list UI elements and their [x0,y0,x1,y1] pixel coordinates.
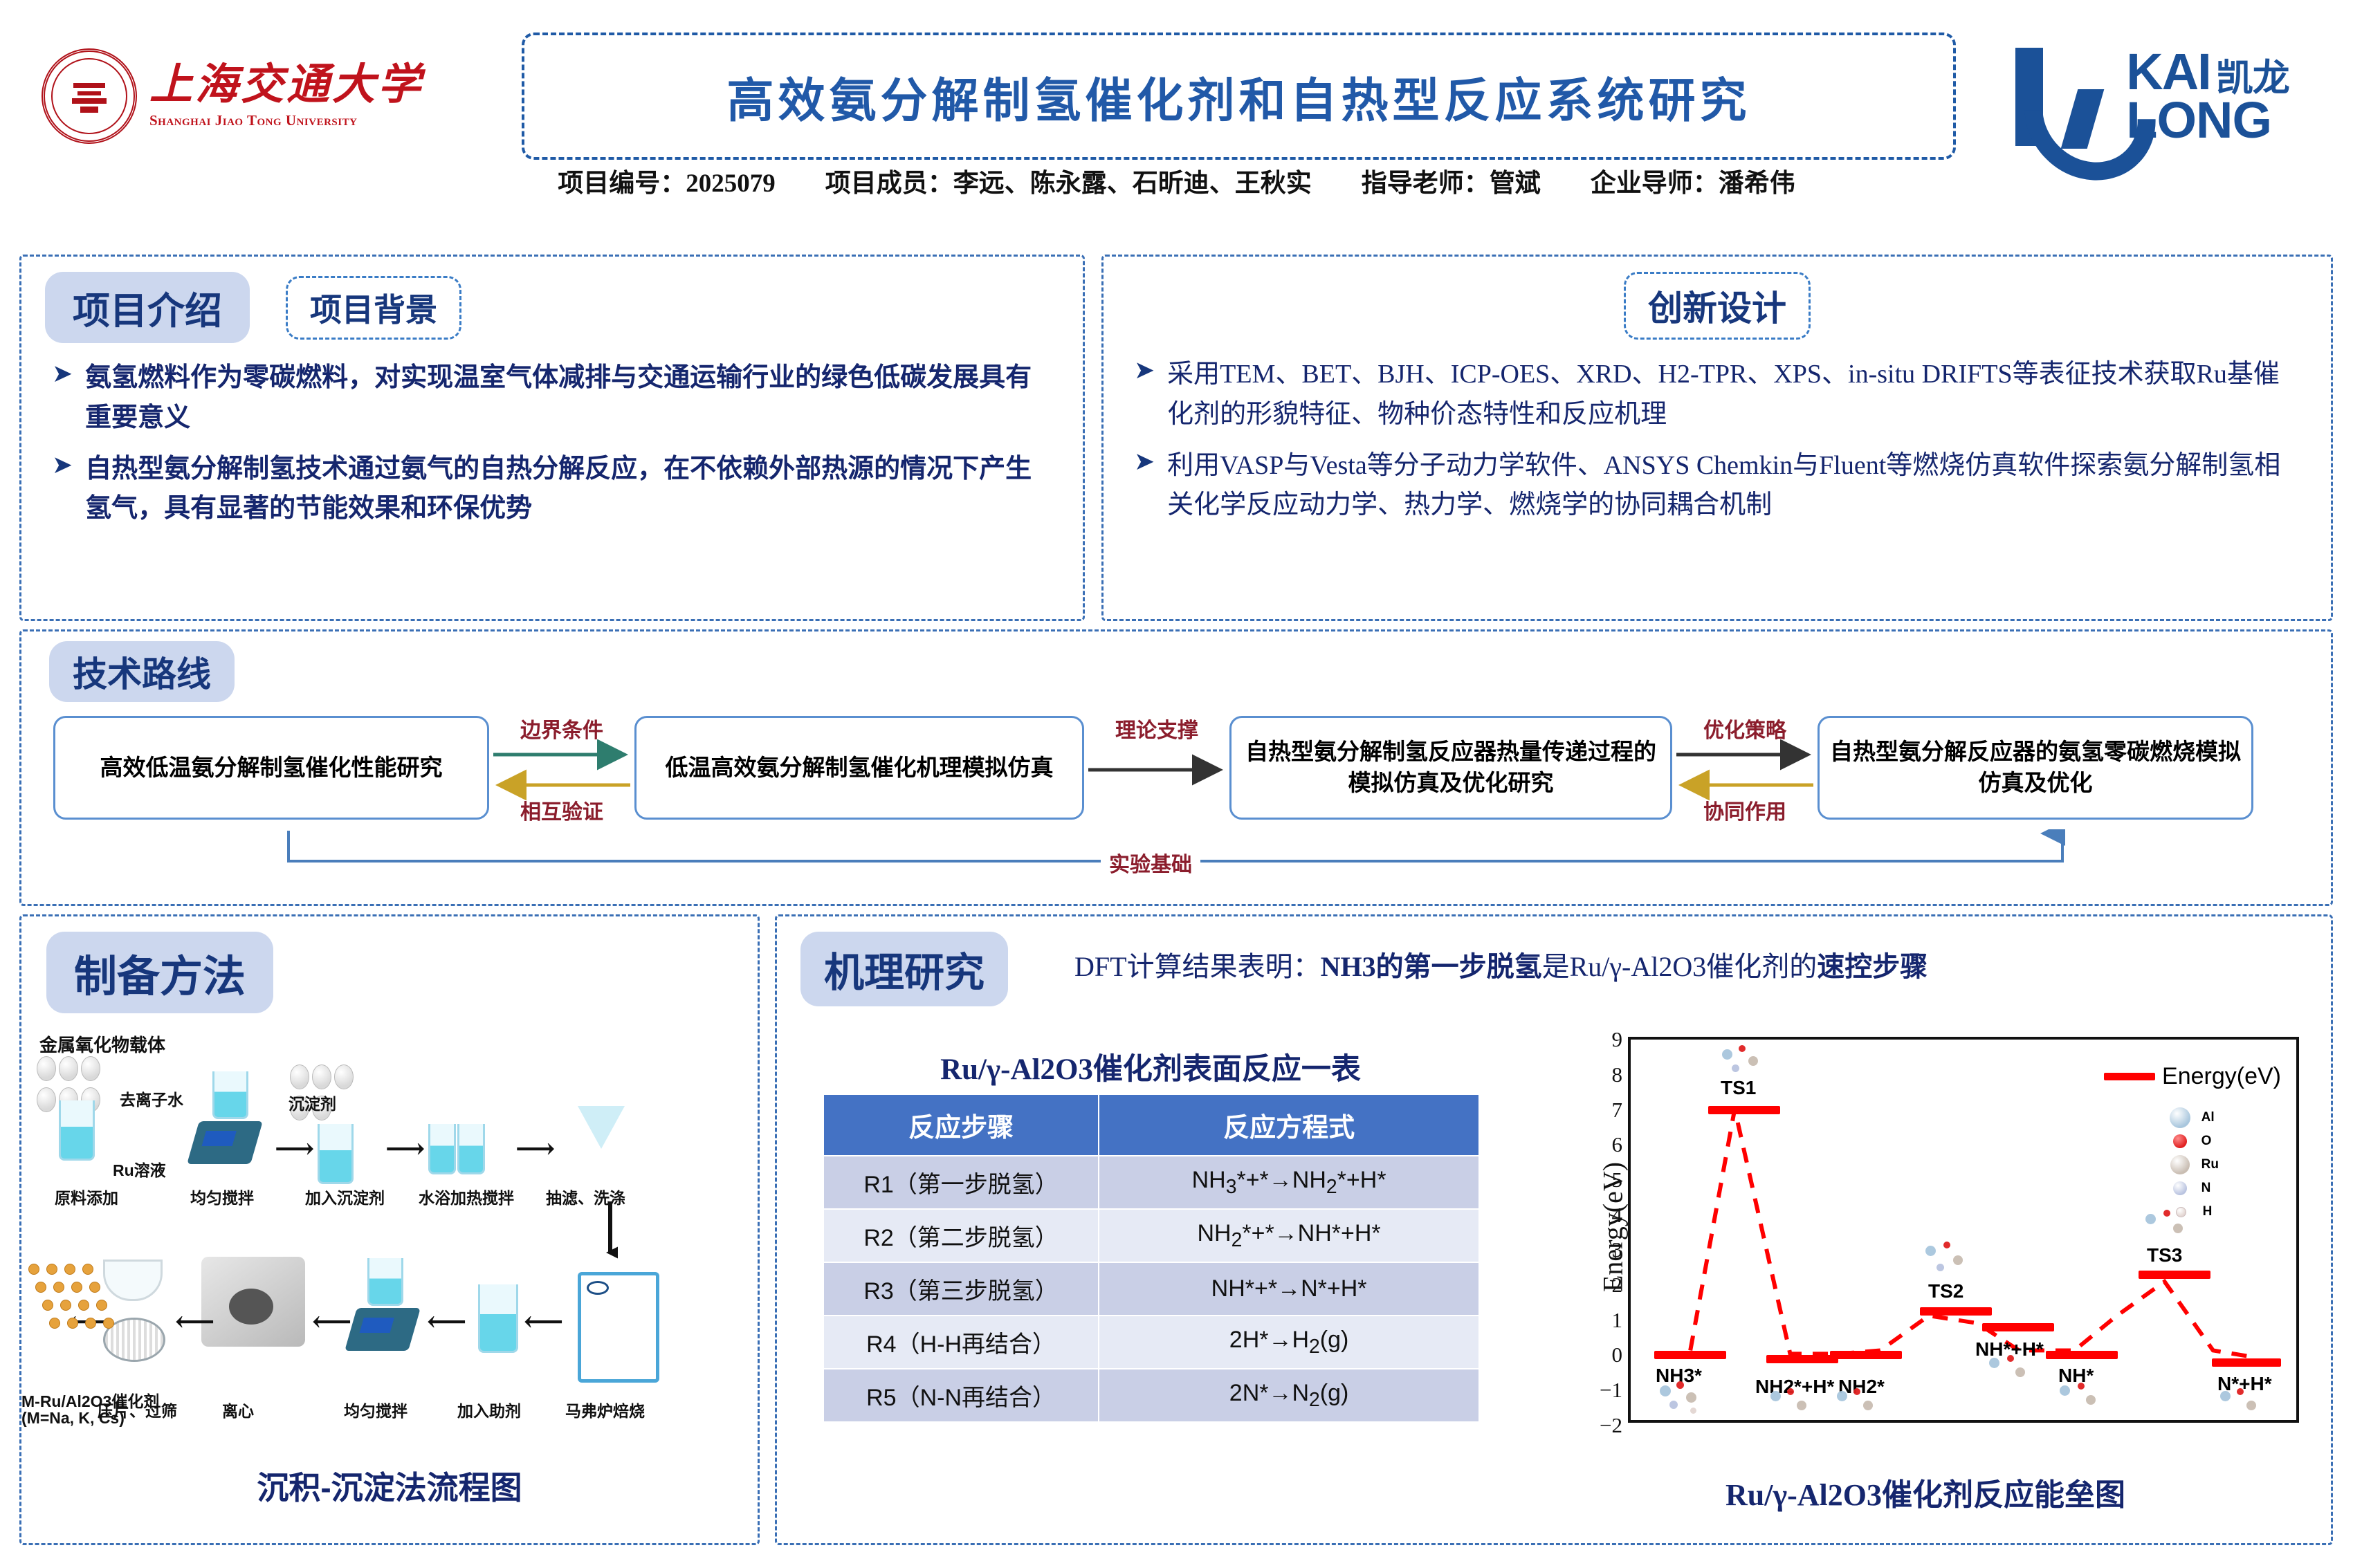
y-tick-8: 8 [1595,1062,1622,1087]
step-label-bottom-5: 马弗炉焙烧 [565,1398,645,1421]
flow-arrow-icon: ⟵ [312,1305,351,1338]
atom-dot-h-icon [2176,1207,2186,1217]
funnel-icon [578,1106,625,1149]
y-tick-1: 1 [1595,1308,1622,1333]
innovation-bullet-2: ➤ 利用VASP与Vesta等分子动力学软件、ANSYS Chemkin与Flu… [1134,446,2300,526]
chart-caption: Ru/γ-Al2O3催化剂反应能垒图 [1531,1470,2320,1514]
reaction-table: 反应步骤 反应方程式 R1（第一步脱氢） NH3*+*→NH2*+H* R2（第… [823,1094,1480,1423]
innovation-bullet-2-text: 利用VASP与Vesta等分子动力学软件、ANSYS Chemkin与Fluen… [1167,446,2300,526]
sjtu-seal-icon [42,48,137,144]
table-header-row: 反应步骤 反应方程式 [823,1094,1479,1156]
reaction-table-title: Ru/γ-Al2O3催化剂表面反应一表 [812,1045,1490,1088]
centrifuge-icon [201,1257,305,1347]
kailong-mark-icon [2015,44,2119,149]
level-bar-N-H [2212,1358,2281,1367]
route-connector-3: 优化策略 协同作用 [1672,716,1818,820]
state-label-TS2: TS2 [1928,1280,1963,1302]
step-label-bottom-4: 加入助剂 [457,1398,521,1421]
level-bar-TS2 [1920,1307,1992,1316]
table-row: R1（第一步脱氢） NH3*+*→NH2*+H* [823,1156,1479,1209]
beaker-icon [428,1124,456,1174]
magnetic-stirrer-icon [187,1121,263,1164]
flow-arrow-icon: ⟵ [175,1305,214,1338]
y-tick-3: 3 [1595,1237,1622,1262]
kailong-logo: KAI 凯龙 LONG [1979,34,2325,158]
table-cell-equation: 2N*→N2(g) [1099,1369,1479,1422]
route-flow: 高效低温氨分解制氢催化性能研究 边界条件 相互验证 低温高效氨分解制氢催化机理模… [53,709,2302,827]
bullet-arrow-icon: ➤ [1134,446,1155,526]
project-members: 项目成员：李远、陈永露、石昕迪、王秋实 [825,162,1312,199]
route-connector-2: 理论支撑 [1084,716,1229,820]
route-feedback-arrow-icon [284,829,2132,878]
enterprise-mentor: 企业导师：潘希伟 [1591,162,1795,199]
level-bar-NH3 [1654,1351,1726,1359]
table-cell-equation: 2H*→H2(g) [1099,1316,1479,1369]
atom-label-al: Al [2201,1110,2215,1125]
level-bar-NH [2046,1351,2118,1359]
muffle-furnace-icon [578,1272,659,1383]
y-tick-5: 5 [1595,1168,1622,1192]
chart-legend-energy: Energy(eV) [2104,1063,2281,1090]
y-tick-7: 7 [1595,1098,1622,1123]
flow-arrow-icon: ⟶ [515,1132,555,1165]
beaker-icon [367,1258,403,1306]
intro-chip-label: 项目介绍 [45,272,250,343]
intro-bullet-2: ➤ 自热型氨分解制氢技术通过氨气的自热分解反应，在不依赖外部热源的情况下产生氢气… [52,450,1052,530]
molecule-thumb-NH2 [1833,1385,1884,1428]
route-chip-label: 技术路线 [49,641,235,702]
product-label-line1: M-Ru/Al2O3催化剂 [21,1388,159,1412]
intro-bullet-1: ➤ 氨氢燃料作为零碳燃料，对实现温室气体减排与交通运输行业的绿色低碳发展具有重要… [52,358,1052,439]
university-name-cn: 上海交通大学 [149,63,423,108]
flow-arrow-icon: ⟵ [524,1305,563,1338]
beaker-icon [457,1124,485,1174]
route-connector-3-bottom-label: 协同作用 [1672,795,1818,825]
magnetic-stirrer-icon [345,1308,421,1351]
route-feedback-label: 实验基础 [1101,847,1200,878]
reagent-label-precipitant: 沉淀剂 [289,1091,336,1114]
down-arrow-icon [604,1201,618,1262]
y-tick-4: 4 [1595,1203,1622,1228]
step-label-top-4: 水浴加热搅拌 [419,1185,514,1208]
mechanism-headline: DFT计算结果表明：NH3的第一步脱氢是Ru/γ-Al2O3催化剂的速控步骤 [1074,944,1928,984]
atom-legend-row-n: N [2170,1177,2219,1200]
atom-legend-row-o: O [2170,1129,2219,1153]
project-meta-line: 项目编号：2025079 项目成员：李远、陈永露、石昕迪、王秋实 指导老师：管斌… [0,162,2353,210]
table-cell-step: R5（N-N再结合） [823,1369,1099,1422]
table-cell-equation: NH2*+*→NH*+H* [1099,1209,1479,1262]
innovation-bullet-1: ➤ 采用TEM、BET、BJH、ICP-OES、XRD、H2-TPR、XPS、i… [1134,355,2300,435]
atom-legend-row-h: H [2170,1200,2219,1224]
route-arrow-pair-icon [1672,739,1818,802]
section-mechanism-research: 机理研究 DFT计算结果表明：NH3的第一步脱氢是Ru/γ-Al2O3催化剂的速… [775,914,2333,1545]
level-bar-NH-H [1982,1323,2054,1331]
project-advisor: 指导老师：管斌 [1362,162,1541,199]
mechanism-headline-pre: DFT计算结果表明： [1074,951,1321,982]
route-arrow-pair-icon [489,739,634,802]
molecule-thumb-NH3 [1656,1380,1707,1423]
step-label-top-3: 加入沉淀剂 [305,1185,385,1208]
intro-bullet-1-text: 氨氢燃料作为零碳燃料，对实现温室气体减排与交通运输行业的绿色低碳发展具有重要意义 [85,363,1032,432]
intro-subchip-label: 项目背景 [286,276,461,340]
table-header-equation: 反应方程式 [1099,1094,1479,1156]
beaker-icon [478,1284,518,1353]
mechanism-headline-highlight: NH3的第一步脱氢 [1321,951,1542,982]
chart-atom-legend: Al O Ru N H [2170,1106,2219,1224]
route-feedback-path: 实验基础 [284,829,2132,878]
route-box-2: 低温高效氨分解制氢催化机理模拟仿真 [634,716,1084,820]
catalyst-lattice-icon [24,1260,142,1349]
intro-bullet-2-text: 自热型氨分解制氢技术通过氨气的自热分解反应，在不依赖外部热源的情况下产生氢气，具… [85,454,1032,524]
section-technical-route: 技术路线 高效低温氨分解制氢催化性能研究 边界条件 相互验证 低温高效氨分解制氢… [19,629,2333,906]
university-name-en: Shanghai Jiao Tong University [149,112,423,129]
atom-label-ru: Ru [2201,1157,2219,1172]
poster-header: 上海交通大学 Shanghai Jiao Tong University 高效氨… [0,0,2353,180]
molecule-thumb-NH2-H [1766,1385,1818,1428]
table-row: R5（N-N再结合） 2N*→N2(g) [823,1369,1479,1422]
innovation-bullet-1-text: 采用TEM、BET、BJH、ICP-OES、XRD、H2-TPR、XPS、in-… [1167,355,2300,435]
table-cell-equation: NH*+*→N*+H* [1099,1262,1479,1316]
energy-profile-chart: Energy(eV) 9 8 7 6 5 4 3 2 1 0 −1 −2 [1552,1027,2306,1461]
atom-dot-n-icon [2173,1181,2187,1195]
section-preparation-method: 制备方法 金属氧化物载体 去离子水 Ru溶液 原料添加 均匀搅拌 ⟶ 沉淀剂 加… [19,914,760,1545]
level-bar-NH2 [1830,1351,1902,1359]
step-label-bottom-3: 均匀搅拌 [344,1398,408,1421]
molecule-thumb-TS1 [1716,1042,1768,1085]
y-tick-neg1: −1 [1595,1378,1622,1403]
atom-legend-row-al: Al [2170,1106,2219,1129]
table-row: R2（第二步脱氢） NH2*+*→NH*+H* [823,1209,1479,1262]
y-tick-2: 2 [1595,1273,1622,1298]
molecule-thumb-NH [2056,1380,2107,1423]
table-row: R3（第三步脱氢） NH*+*→N*+H* [823,1262,1479,1316]
route-box-4: 自热型氨分解反应器的氨氢零碳燃烧模拟仿真及优化 [1818,716,2253,820]
level-bar-TS1 [1708,1106,1780,1114]
reagent-label-ru: Ru溶液 [113,1157,166,1181]
step-label-top-1: 原料添加 [55,1185,118,1208]
flow-arrow-icon: ⟶ [275,1132,314,1165]
route-box-1: 高效低温氨分解制氢催化性能研究 [53,716,489,820]
mechanism-headline-post: 是Ru/γ-Al2O3催化剂的 [1542,951,1818,982]
molecule-thumb-N-H [2216,1385,2267,1428]
route-connector-1: 边界条件 相互验证 [489,716,634,820]
product-label-line2: (M=Na, K, Cs) [21,1409,125,1428]
project-number: 项目编号：2025079 [558,162,776,199]
legend-line-swatch [2104,1073,2155,1080]
preparation-caption: 沉积-沉淀法流程图 [21,1463,758,1509]
reagent-label-water: 去离子水 [120,1087,183,1110]
preparation-flow-diagram: 去离子水 Ru溶液 原料添加 均匀搅拌 ⟶ 沉淀剂 加入沉淀剂 ⟶ 水浴加热搅拌… [31,1052,751,1460]
beaker-icon [212,1071,248,1119]
atom-dot-o-icon [2173,1134,2187,1148]
table-cell-step: R1（第一步脱氢） [823,1156,1099,1209]
y-tick-neg2: −2 [1595,1413,1622,1438]
poster-title: 高效氨分解制氢催化剂和自热型反应系统研究 [726,62,1750,131]
table-row: R4（H-H再结合） 2H*→H2(g) [823,1316,1479,1369]
atom-dot-ru-icon [2170,1155,2190,1174]
table-cell-step: R4（H-H再结合） [823,1316,1099,1369]
bullet-arrow-icon: ➤ [52,358,73,439]
poster-title-box: 高效氨分解制氢催化剂和自热型反应系统研究 [522,33,1956,160]
beaker-icon [318,1124,354,1184]
level-bar-TS3 [2139,1271,2210,1279]
y-tick-9: 9 [1595,1027,1622,1052]
preparation-chip-label: 制备方法 [46,932,273,1013]
chart-plot-area: NH3* TS1 NH2*+H* NH2* TS2 NH*+H* NH* TS3… [1628,1037,2299,1423]
innovation-chip-label: 创新设计 [1624,272,1811,340]
level-bar-NH2-H [1766,1355,1838,1363]
mechanism-headline-end: 速控步骤 [1817,951,1928,982]
step-label-bottom-2: 离心 [222,1398,254,1421]
molecule-thumb-TS2 [1921,1240,1972,1283]
table-cell-equation: NH3*+*→NH2*+H* [1099,1156,1479,1209]
bullet-arrow-icon: ➤ [1134,355,1155,435]
beaker-icon [59,1100,95,1161]
atom-label-o: O [2201,1134,2212,1149]
flow-arrow-icon: ⟶ [385,1132,425,1165]
route-box-3: 自热型氨分解制氢反应器热量传递过程的模拟仿真及优化研究 [1229,716,1672,820]
section-innovative-design: 创新设计 ➤ 采用TEM、BET、BJH、ICP-OES、XRD、H2-TPR、… [1101,255,2333,621]
table-cell-step: R2（第二步脱氢） [823,1209,1099,1262]
molecule-thumb-NH-H [1985,1352,2036,1395]
atom-label-n: N [2201,1181,2211,1196]
poster-root: 上海交通大学 Shanghai Jiao Tong University 高效氨… [0,0,2353,1568]
mechanism-chip-label: 机理研究 [800,932,1008,1006]
route-arrow-icon [1084,739,1229,802]
atom-legend-row-ru: Ru [2170,1153,2219,1177]
legend-energy-label: Energy(eV) [2162,1063,2281,1090]
table-cell-step: R3（第三步脱氢） [823,1262,1099,1316]
y-tick-0: 0 [1595,1343,1622,1367]
section-project-introduction: 项目介绍 项目背景 ➤ 氨氢燃料作为零碳燃料，对实现温室气体减排与交通运输行业的… [19,255,1085,621]
route-connector-1-bottom-label: 相互验证 [489,795,634,825]
atom-label-h: H [2203,1204,2213,1219]
bullet-arrow-icon: ➤ [52,450,73,530]
step-label-top-2: 均匀搅拌 [190,1185,254,1208]
y-tick-6: 6 [1595,1132,1622,1157]
sjtu-logo: 上海交通大学 Shanghai Jiao Tong University [42,48,498,144]
atom-dot-al-icon [2170,1107,2190,1128]
table-header-step: 反应步骤 [823,1094,1099,1156]
flow-arrow-icon: ⟵ [427,1305,466,1338]
